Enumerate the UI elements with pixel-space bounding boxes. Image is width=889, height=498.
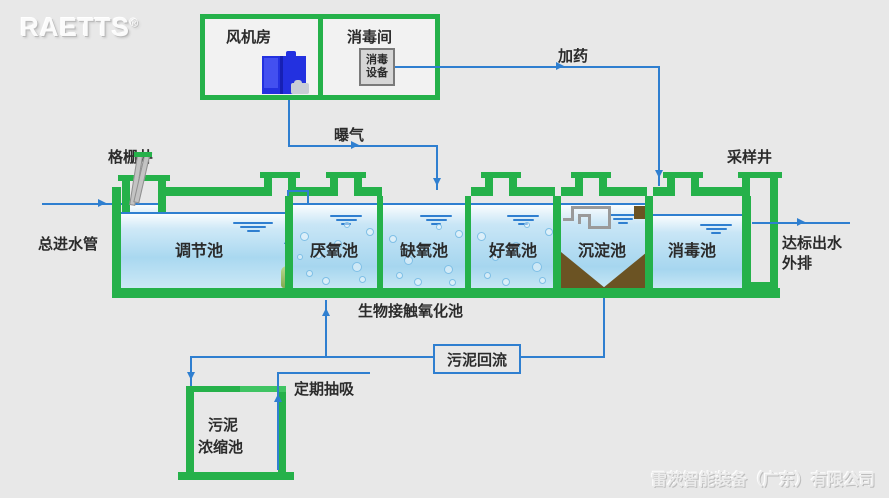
- sludge-return-pipe-down: [603, 298, 605, 357]
- deck-segment-5: [517, 187, 555, 196]
- wall-sedimentation-disinfection: [645, 196, 653, 291]
- company-watermark: 雷茨智能装备（广东）有限公司: [651, 466, 875, 490]
- manhole-4-left: [575, 176, 583, 196]
- outlet-label-line1: 达标出水: [782, 232, 842, 253]
- dosing-label: 加药: [558, 45, 588, 66]
- manhole-1-left: [264, 176, 272, 196]
- manhole-1-right: [288, 176, 296, 196]
- sludge-return-arrow-up-icon: [322, 308, 330, 316]
- sludge-return-label: 污泥回流: [447, 349, 507, 370]
- anoxic-tank-label: 缺氧池: [400, 237, 448, 261]
- manhole-2-right: [354, 176, 362, 196]
- dosing-pipe-horizontal: [395, 66, 660, 68]
- disinfection-room-label: 消毒间: [347, 26, 392, 47]
- sedimentation-tank-label: 沉淀池: [578, 237, 626, 261]
- aerobic-tank-water-surface: [471, 203, 555, 205]
- manhole-5-cap: [663, 172, 703, 178]
- manhole-3-left: [485, 176, 493, 196]
- aerobic-water-level-mark: [507, 215, 539, 227]
- inlet-label: 总进水管: [38, 233, 98, 254]
- regulating-tank-label: 调节池: [175, 237, 223, 261]
- manhole-2-cap: [326, 172, 366, 178]
- outlet-label-line2: 外排: [782, 252, 812, 273]
- thickener-label-line1: 污泥: [208, 414, 238, 435]
- aerobic-tank-label: 好氧池: [489, 237, 537, 261]
- anaerobic-tank-water-surface: [293, 203, 377, 205]
- regulating-water-level-mark: [233, 222, 273, 234]
- periodic-suction-arrow-icon: [274, 394, 282, 402]
- clarifier-feed-pipe-h3: [588, 226, 611, 229]
- room-divider: [318, 14, 323, 100]
- clarifier-feed-pipe-v2: [608, 206, 611, 228]
- raetts-logo: RAETTS®: [20, 12, 139, 43]
- regulating-tank-water-surface: [121, 212, 285, 214]
- thickener-bottom-slab: [178, 472, 294, 480]
- aeration-pipe-down-1: [288, 100, 290, 146]
- registered-trademark-icon: ®: [130, 17, 139, 29]
- periodic-suction-label: 定期抽吸: [294, 378, 354, 399]
- regulating-tank-deck-left: [166, 187, 266, 196]
- manhole-3-cap: [481, 172, 521, 178]
- clarifier-feed-pipe-h1: [571, 206, 611, 209]
- deck-segment-3: [362, 187, 382, 196]
- wall-aerobic-sedimentation: [553, 196, 561, 291]
- manhole-4-cap: [571, 172, 611, 178]
- outlet-arrow-icon: [797, 218, 805, 226]
- anaerobic-tank-label: 厌氧池: [310, 237, 358, 261]
- thickener-left-wall: [186, 390, 194, 478]
- aeration-pipe-horizontal: [288, 145, 438, 147]
- dosing-arrow-down-icon: [655, 170, 663, 178]
- sludge-to-thickener-pipe-h: [190, 356, 328, 358]
- manhole-5-right: [691, 176, 699, 196]
- transfer-pump-outlet: [287, 190, 309, 192]
- manhole-4-right: [599, 176, 607, 196]
- wall-regulating-anaerobic: [285, 196, 293, 291]
- tank-floor-slab: [112, 288, 780, 298]
- disinfection-equipment-label: 消毒设备: [366, 54, 388, 79]
- sedimentation-tank-water-surface: [561, 203, 647, 205]
- manhole-1-cap: [260, 172, 300, 178]
- aeration-arrow-down-icon: [433, 178, 441, 186]
- sampling-well-cap: [738, 172, 782, 178]
- sludge-to-thickener-arrow-icon: [187, 372, 195, 380]
- disinfection-equipment-box: 消毒设备: [359, 48, 395, 86]
- sampling-well-label: 采样井: [727, 146, 772, 167]
- thickener-top-left-cap: [186, 386, 242, 392]
- thickener-top-right-cap: [240, 386, 286, 392]
- basin-left-wall: [112, 187, 121, 291]
- dosing-pipe-vertical: [658, 66, 660, 186]
- grille-handle: [134, 152, 152, 157]
- bio-contact-oxidation-label: 生物接触氧化池: [358, 300, 463, 321]
- sampling-well-bottom: [742, 282, 778, 290]
- disinfection-tank-label: 消毒池: [668, 237, 716, 261]
- clarifier-feed-pipe-v4: [578, 214, 581, 224]
- periodic-suction-pipe-v: [277, 372, 279, 470]
- thickener-label-line2: 浓缩池: [198, 436, 243, 457]
- logo-text: RAETTS: [20, 12, 130, 42]
- process-flow-diagram: RAETTS® 风机房 消毒间 消毒设备 加药 曝气 总进水管 格栅井: [0, 0, 889, 498]
- aeration-label: 曝气: [334, 124, 364, 145]
- disinfection-water-level-mark: [700, 224, 732, 236]
- manhole-3-right: [509, 176, 517, 196]
- anoxic-tank-water-surface: [383, 203, 465, 205]
- deck-segment-7: [607, 187, 647, 196]
- deck-segment-9: [699, 187, 744, 196]
- clarifier-feed-pipe-h2: [563, 218, 574, 221]
- blower-room-label: 风机房: [226, 26, 271, 47]
- disinfection-tank-water-surface: [653, 214, 743, 216]
- manhole-5-left: [667, 176, 675, 196]
- periodic-suction-pipe-h: [277, 372, 370, 374]
- sampling-well-right-wall: [770, 176, 778, 286]
- sludge-return-label-box: 污泥回流: [433, 344, 521, 374]
- thickener-right-wall: [278, 390, 286, 478]
- blower-machine-icon: [256, 50, 314, 95]
- inlet-arrow-icon: [98, 199, 106, 207]
- manhole-2-left: [330, 176, 338, 196]
- sampling-well-left-wall: [742, 176, 750, 286]
